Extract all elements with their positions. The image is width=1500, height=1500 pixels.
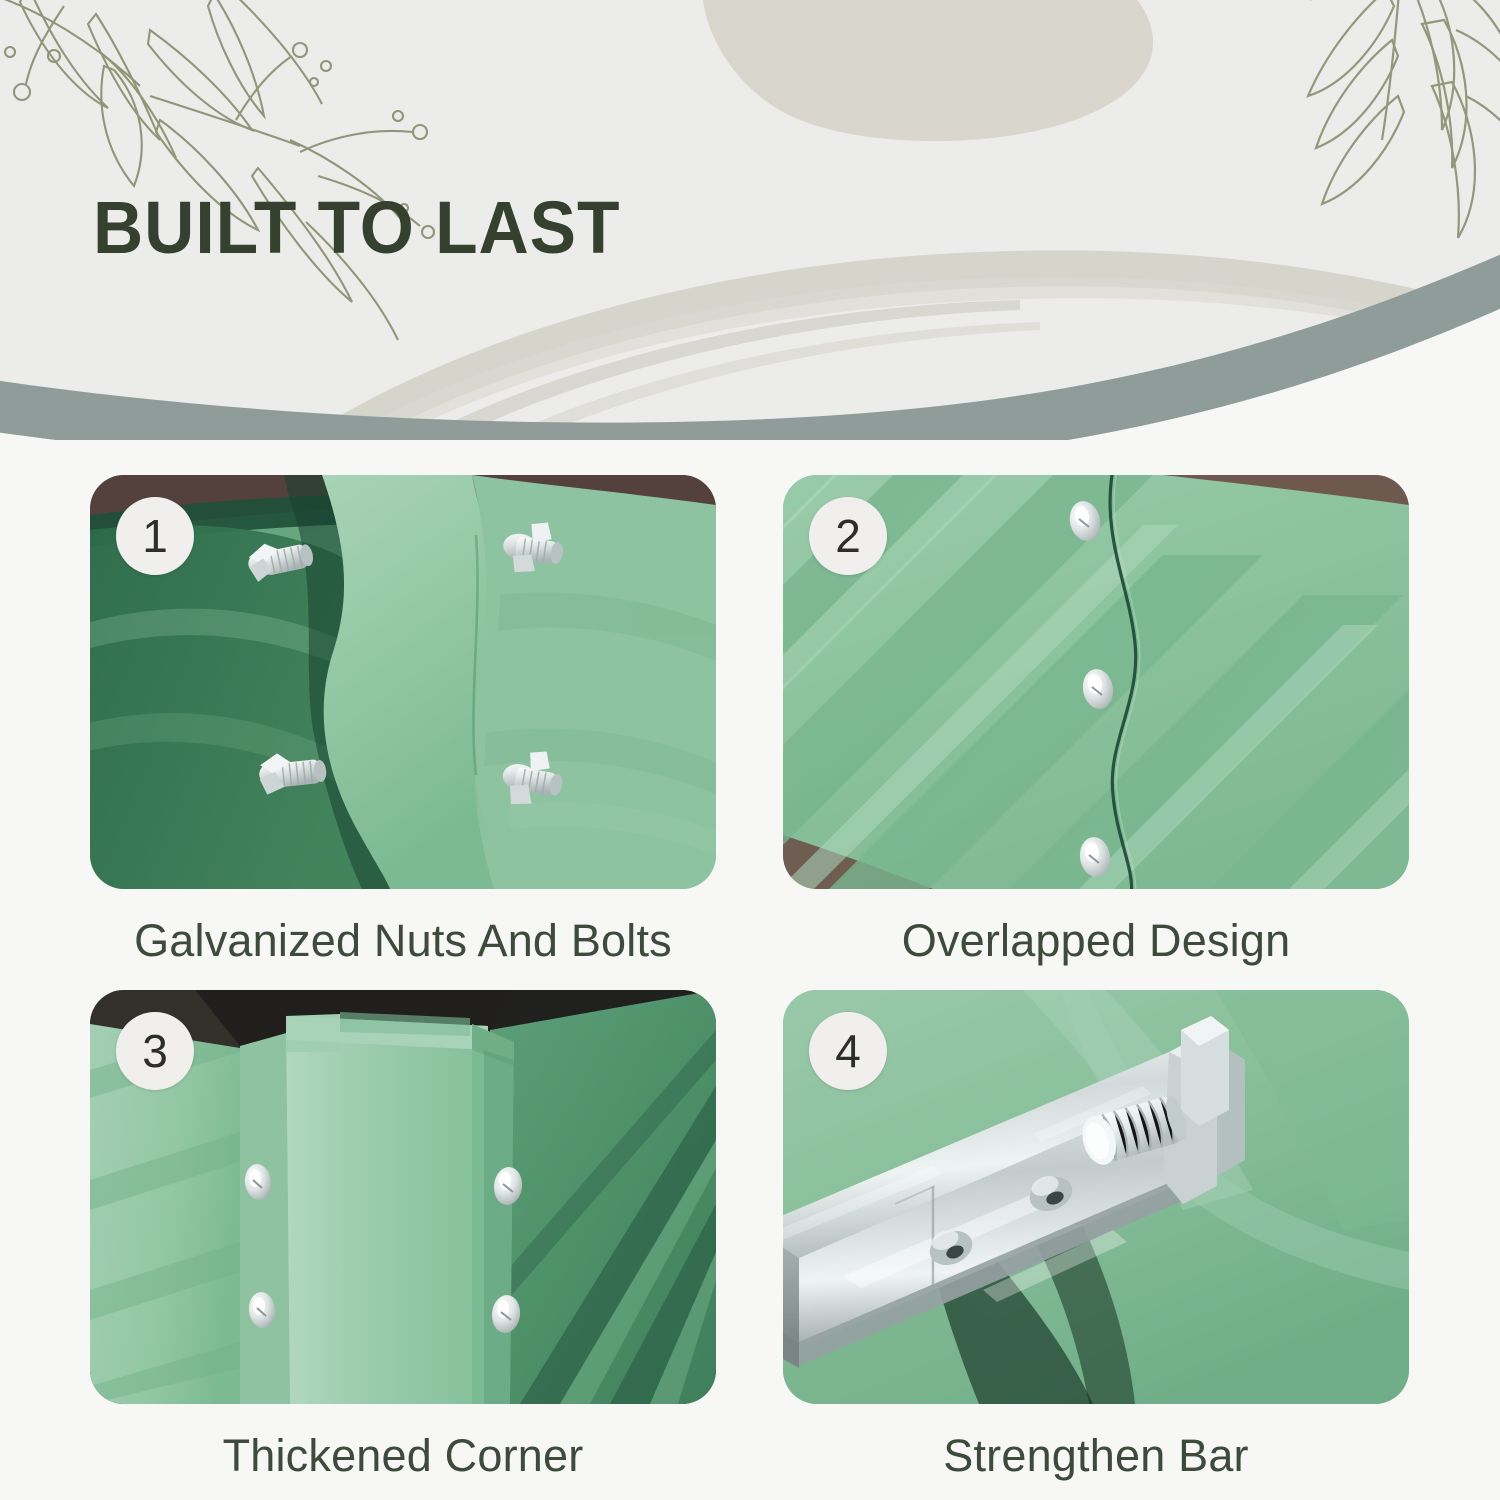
step-badge-2: 2 xyxy=(809,497,887,575)
botanical-leaves-top-left xyxy=(0,0,434,340)
feature-image-1: 1 xyxy=(90,475,716,889)
feature-caption-3: Thickened Corner xyxy=(90,1430,716,1482)
feature-caption-2: Overlapped Design xyxy=(783,915,1409,967)
feature-card-4[interactable]: 4 Strengthen Bar xyxy=(783,990,1409,1482)
page-title: BUILT TO LAST xyxy=(93,185,620,270)
step-badge-4: 4 xyxy=(809,1012,887,1090)
botanical-leaves-top-right xyxy=(1308,0,1500,238)
feature-image-2: 2 xyxy=(783,475,1409,889)
feature-grid: 1 Galvanized Nuts And Bolts xyxy=(0,440,1500,1500)
step-badge-1: 1 xyxy=(116,497,194,575)
feature-image-4: 4 xyxy=(783,990,1409,1404)
feature-card-3[interactable]: 3 Thickened Corner xyxy=(90,990,716,1482)
taupe-blob xyxy=(702,0,1153,141)
step-badge-3: 3 xyxy=(116,1012,194,1090)
feature-card-1[interactable]: 1 Galvanized Nuts And Bolts xyxy=(90,475,716,967)
feature-image-3: 3 xyxy=(90,990,716,1404)
feature-caption-1: Galvanized Nuts And Bolts xyxy=(90,915,716,967)
page-header: BUILT TO LAST xyxy=(0,0,1500,440)
feature-caption-4: Strengthen Bar xyxy=(783,1430,1409,1482)
feature-card-2[interactable]: 2 Overlapped Design xyxy=(783,475,1409,967)
